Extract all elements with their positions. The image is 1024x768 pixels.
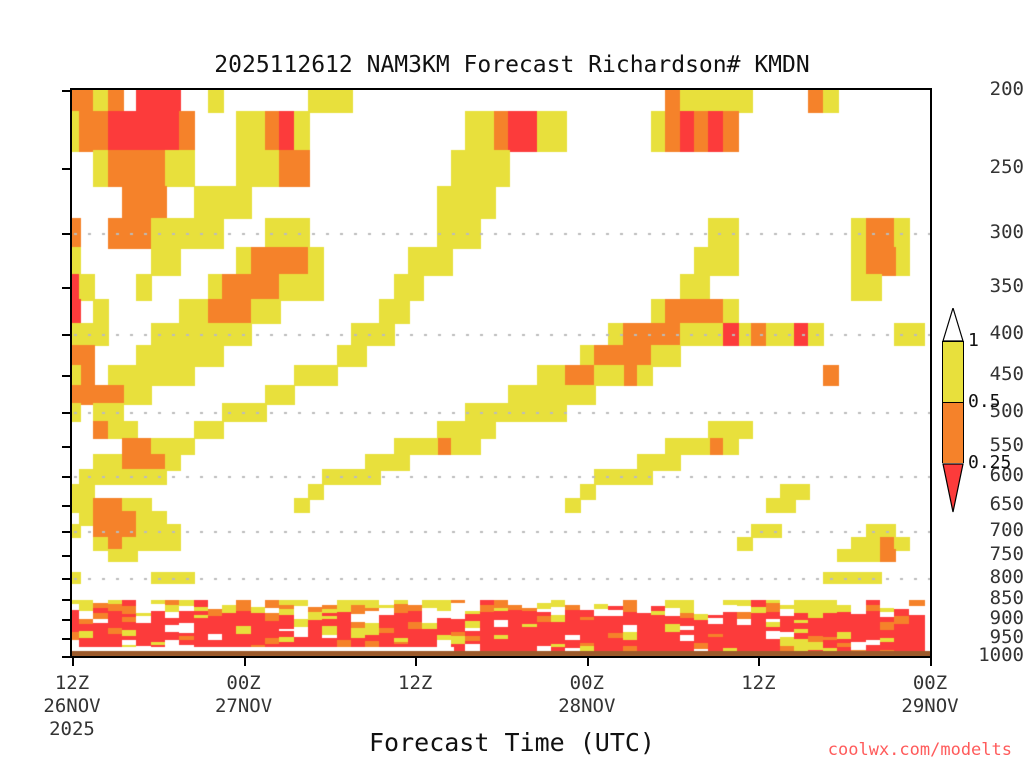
colorbar-label: 1 (968, 332, 979, 350)
colorbar-bottom-arrow (942, 463, 964, 513)
y-axis-tick-mark (62, 412, 70, 414)
x-axis-tick-label: 12Z (325, 672, 505, 695)
y-axis-tick-mark (62, 233, 70, 235)
y-axis-tick-label: 1000 (964, 646, 1024, 665)
x-axis-tick-date: 28NOV (497, 695, 677, 718)
y-axis-tick-mark (62, 619, 70, 621)
y-axis-tick-mark (62, 446, 70, 448)
y-axis-tick-label: 450 (964, 365, 1024, 384)
x-axis-tick-time: 00Z (154, 672, 334, 695)
x-axis-tick-time: 00Z (497, 672, 677, 695)
y-axis-tick-mark (62, 531, 70, 533)
chart-page: 2025112612 NAM3KM Forecast Richardson# K… (0, 0, 1024, 768)
x-axis-tick-date: 29NOV (840, 695, 1020, 718)
y-axis-tick-label: 250 (964, 158, 1024, 177)
y-axis-tick-mark (62, 90, 70, 92)
y-axis-tick-label: 650 (964, 495, 1024, 514)
y-axis-tick-label: 750 (964, 545, 1024, 564)
colorbar-band-yellow (942, 341, 964, 402)
y-axis-tick-mark (62, 476, 70, 478)
y-axis-tick-label: 350 (964, 277, 1024, 296)
x-axis-tick-date: 26NOV (0, 695, 162, 718)
x-axis-tick-time: 12Z (668, 672, 848, 695)
colorbar-top-arrow (942, 308, 964, 342)
y-axis-tick-mark (62, 505, 70, 507)
y-axis-tick-mark (62, 287, 70, 289)
y-axis-tick-mark (62, 656, 70, 658)
y-axis-tick-label: 300 (964, 223, 1024, 242)
page-title: 2025112612 NAM3KM Forecast Richardson# K… (0, 52, 1024, 78)
x-axis-tick-mark (930, 658, 932, 666)
y-axis-tick-mark (62, 638, 70, 640)
x-axis-tick-label: 12Z (668, 672, 848, 695)
colorbar-band-orange (942, 402, 964, 463)
x-axis-tick-label: 00Z28NOV (497, 672, 677, 718)
y-axis-tick-mark (62, 334, 70, 336)
y-axis-tick-mark (62, 578, 70, 580)
y-axis-tick-label: 200 (964, 80, 1024, 99)
x-axis-tick-mark (587, 658, 589, 666)
y-axis-tick-mark (62, 168, 70, 170)
x-axis-tick-mark (244, 658, 246, 666)
x-axis-tick-label: 00Z27NOV (154, 672, 334, 718)
site-credit: coolwx.com/modelts (828, 740, 1012, 760)
x-axis-tick-label: 00Z29NOV (840, 672, 1020, 718)
x-axis-tick-mark (758, 658, 760, 666)
y-axis-tick-label: 850 (964, 589, 1024, 608)
plot-area (70, 88, 932, 658)
y-axis-tick-mark (62, 555, 70, 557)
y-axis-tick-label: 700 (964, 521, 1024, 540)
x-axis-tick-time: 12Z (325, 672, 505, 695)
x-axis-tick-date: 27NOV (154, 695, 334, 718)
x-axis-tick-time: 12Z (0, 672, 162, 695)
colorbar-label: 0.5 (968, 393, 1001, 411)
x-axis-tick-time: 00Z (840, 672, 1020, 695)
y-axis-tick-mark (62, 375, 70, 377)
x-axis-tick-mark (415, 658, 417, 666)
y-axis-tick-mark (62, 599, 70, 601)
richardson-heatmap (72, 90, 930, 656)
colorbar-label: 0.25 (968, 454, 1011, 472)
x-axis-tick-mark (72, 658, 74, 666)
y-axis-tick-label: 800 (964, 568, 1024, 587)
